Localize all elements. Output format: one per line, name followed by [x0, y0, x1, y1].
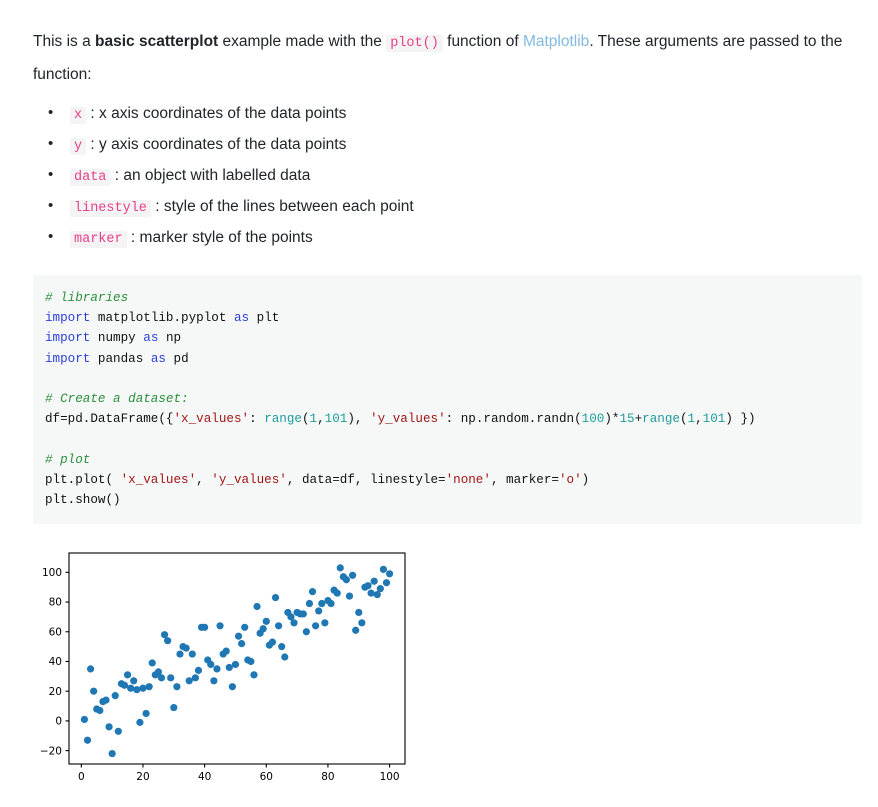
- scatter-point: [195, 667, 202, 674]
- parameter-list: x : x axis coordinates of the data point…: [0, 102, 878, 252]
- code-alias-plt: plt: [249, 311, 279, 325]
- scatter-point: [260, 625, 267, 632]
- code-kw-import-3: import: [45, 352, 90, 366]
- code-kw-as-1: as: [234, 311, 249, 325]
- list-item: linestyle : style of the lines between e…: [70, 195, 878, 221]
- param-name-linestyle: linestyle: [70, 200, 151, 217]
- param-desc-x: : x axis coordinates of the data points: [90, 105, 346, 122]
- scatter-point: [139, 685, 146, 692]
- code-randn-call: : np.random.randn: [446, 412, 574, 426]
- scatter-point: [300, 611, 307, 618]
- scatter-point: [81, 716, 88, 723]
- scatter-point: [207, 661, 214, 668]
- scatter-point: [343, 576, 350, 583]
- code-plt-show: plt.show(): [45, 493, 121, 507]
- scatter-point: [281, 654, 288, 661]
- intro-paragraph: This is a basic scatterplot example made…: [0, 0, 878, 90]
- scatter-point: [87, 666, 94, 673]
- intro-text-1: This is a: [33, 33, 95, 50]
- scatter-point: [216, 622, 223, 629]
- scatter-point: [315, 608, 322, 615]
- code-plot-args: , data=df, linestyle=: [287, 473, 446, 487]
- scatter-point: [232, 661, 239, 668]
- scatter-point: [346, 593, 353, 600]
- intro-text-2: example made with the: [218, 33, 386, 50]
- list-item: marker : marker style of the points: [70, 226, 878, 252]
- code-num-1-b: 1: [688, 412, 696, 426]
- code-kw-as-3: as: [151, 352, 166, 366]
- scatter-point: [275, 622, 282, 629]
- scatter-point: [84, 737, 91, 744]
- code-df-assign: df=pd.DataFrame({: [45, 412, 173, 426]
- code-num-15: 15: [619, 412, 634, 426]
- y-axis-tick-label: 60: [49, 627, 62, 639]
- code-fn-range-2: range: [642, 412, 680, 426]
- scatter-point: [133, 686, 140, 693]
- scatter-point: [253, 603, 260, 610]
- scatter-point: [112, 692, 119, 699]
- scatter-point: [173, 683, 180, 690]
- y-axis-tick-label: 0: [55, 716, 62, 728]
- scatter-point: [380, 566, 387, 573]
- param-desc-data: : an object with labelled data: [115, 167, 311, 184]
- y-axis-tick-label: 100: [42, 567, 62, 579]
- code-kw-as-2: as: [143, 331, 158, 345]
- x-axis-tick-label: 40: [198, 771, 211, 783]
- scatter-point: [96, 707, 103, 714]
- code-module-pandas: pandas: [90, 352, 150, 366]
- scatter-point: [309, 588, 316, 595]
- code-paren-2: ),: [347, 412, 370, 426]
- scatter-point: [136, 719, 143, 726]
- scatter-point: [386, 570, 393, 577]
- scatter-point: [241, 624, 248, 631]
- code-comment-libraries: # libraries: [45, 291, 128, 305]
- scatter-point: [349, 572, 356, 579]
- scatter-point: [247, 658, 254, 665]
- scatter-point: [327, 600, 334, 607]
- scatterplot-svg: 020406080100−20020406080100: [0, 542, 878, 807]
- code-plot-str-x: 'x_values': [121, 473, 197, 487]
- code-df-end: ) }): [725, 412, 755, 426]
- param-name-data: data: [70, 169, 110, 186]
- scatter-point: [223, 648, 230, 655]
- scatter-point: [109, 750, 116, 757]
- scatter-point: [229, 683, 236, 690]
- scatter-point: [290, 619, 297, 626]
- scatter-point: [306, 600, 313, 607]
- code-comment-dataset: # Create a dataset:: [45, 392, 189, 406]
- code-block: # libraries import matplotlib.pyplot as …: [33, 275, 862, 524]
- y-axis-tick-label: 20: [49, 686, 62, 698]
- scatter-point: [226, 664, 233, 671]
- scatter-point: [269, 639, 276, 646]
- scatter-point: [183, 645, 190, 652]
- code-plot-str-o: 'o': [559, 473, 582, 487]
- code-plot-marker-arg: , marker=: [491, 473, 559, 487]
- intro-text-3: function of: [443, 33, 523, 50]
- x-axis-tick-label: 0: [78, 771, 85, 783]
- code-module-numpy: numpy: [90, 331, 143, 345]
- code-comma-2: ,: [695, 412, 703, 426]
- code-comment-plot: # plot: [45, 453, 90, 467]
- list-item: x : x axis coordinates of the data point…: [70, 102, 878, 128]
- scatter-point: [377, 585, 384, 592]
- y-axis-tick-label: 80: [49, 597, 62, 609]
- code-comma-1: ,: [317, 412, 325, 426]
- scatter-point: [186, 677, 193, 684]
- code-plot-comma-1: ,: [196, 473, 211, 487]
- scatter-point: [170, 704, 177, 711]
- scatter-point: [105, 723, 112, 730]
- scatter-point: [250, 671, 257, 678]
- scatter-point: [121, 682, 128, 689]
- scatter-point: [352, 627, 359, 634]
- inline-code-plot: plot(): [386, 35, 443, 52]
- scatter-point: [210, 677, 217, 684]
- scatter-point: [115, 728, 122, 735]
- scatter-point: [213, 666, 220, 673]
- code-plot-str-none: 'none': [446, 473, 491, 487]
- code-kw-import-1: import: [45, 311, 90, 325]
- scatter-point: [367, 590, 374, 597]
- code-paren-1: (: [302, 412, 310, 426]
- code-str-x-values: 'x_values': [173, 412, 249, 426]
- scatter-point: [272, 594, 279, 601]
- article-page: This is a basic scatterplot example made…: [0, 0, 878, 807]
- scatter-point: [371, 578, 378, 585]
- code-paren-5: (: [680, 412, 688, 426]
- scatter-point: [355, 609, 362, 616]
- code-num-101-a: 101: [325, 412, 348, 426]
- code-num-101-b: 101: [703, 412, 726, 426]
- code-fn-range-1: range: [264, 412, 302, 426]
- code-paren-3: (: [574, 412, 582, 426]
- param-desc-marker: : marker style of the points: [131, 229, 313, 246]
- scatter-point: [364, 582, 371, 589]
- code-alias-np: np: [158, 331, 181, 345]
- scatter-point: [176, 651, 183, 658]
- scatter-point: [337, 564, 344, 571]
- scatter-point: [312, 622, 319, 629]
- code-paren-4: )*: [604, 412, 619, 426]
- scatter-point: [383, 579, 390, 586]
- code-plot-close: ): [582, 473, 590, 487]
- x-axis-tick-label: 60: [260, 771, 273, 783]
- scatterplot-figure: 020406080100−20020406080100: [0, 542, 878, 807]
- scatter-point: [334, 590, 341, 597]
- x-axis-tick-label: 80: [321, 771, 334, 783]
- list-item: data : an object with labelled data: [70, 164, 878, 190]
- scatter-point: [130, 677, 137, 684]
- scatter-point: [146, 683, 153, 690]
- param-name-y: y: [70, 138, 86, 155]
- scatter-point: [303, 628, 310, 635]
- code-plot-str-y: 'y_values': [211, 473, 287, 487]
- code-module-matplotlib: matplotlib.pyplot: [90, 311, 234, 325]
- scatter-point: [127, 685, 134, 692]
- scatter-point: [149, 660, 156, 667]
- scatter-point: [235, 633, 242, 640]
- scatter-point: [158, 674, 165, 681]
- code-plot-call: plt.plot(: [45, 473, 121, 487]
- scatter-point: [201, 624, 208, 631]
- y-axis-tick-label: 40: [49, 656, 62, 668]
- code-colon-1: :: [249, 412, 264, 426]
- scatter-point: [192, 674, 199, 681]
- scatter-point: [124, 671, 131, 678]
- scatter-point: [102, 697, 109, 704]
- scatter-point: [358, 619, 365, 626]
- param-desc-y: : y axis coordinates of the data points: [90, 136, 346, 153]
- code-str-y-values: 'y_values': [370, 412, 446, 426]
- param-desc-linestyle: : style of the lines between each point: [155, 198, 414, 215]
- scatter-point: [321, 619, 328, 626]
- scatter-point: [90, 688, 97, 695]
- code-kw-import-2: import: [45, 331, 90, 345]
- code-num-1: 1: [310, 412, 318, 426]
- scatter-point: [142, 710, 149, 717]
- param-name-marker: marker: [70, 231, 127, 248]
- scatter-point: [278, 643, 285, 650]
- matplotlib-link[interactable]: Matplotlib: [523, 33, 589, 50]
- x-axis-tick-label: 100: [380, 771, 400, 783]
- scatter-point: [263, 618, 270, 625]
- code-alias-pd: pd: [166, 352, 189, 366]
- list-item: y : y axis coordinates of the data point…: [70, 133, 878, 159]
- intro-bold-term: basic scatterplot: [95, 33, 218, 50]
- scatter-point: [318, 600, 325, 607]
- x-axis-tick-label: 20: [136, 771, 149, 783]
- scatter-point: [164, 637, 171, 644]
- scatter-point: [167, 674, 174, 681]
- y-axis-tick-label: −20: [40, 746, 62, 758]
- scatter-point: [189, 651, 196, 658]
- code-num-100: 100: [582, 412, 605, 426]
- param-name-x: x: [70, 107, 86, 124]
- scatter-point: [238, 640, 245, 647]
- scatter-points-group: [81, 564, 393, 757]
